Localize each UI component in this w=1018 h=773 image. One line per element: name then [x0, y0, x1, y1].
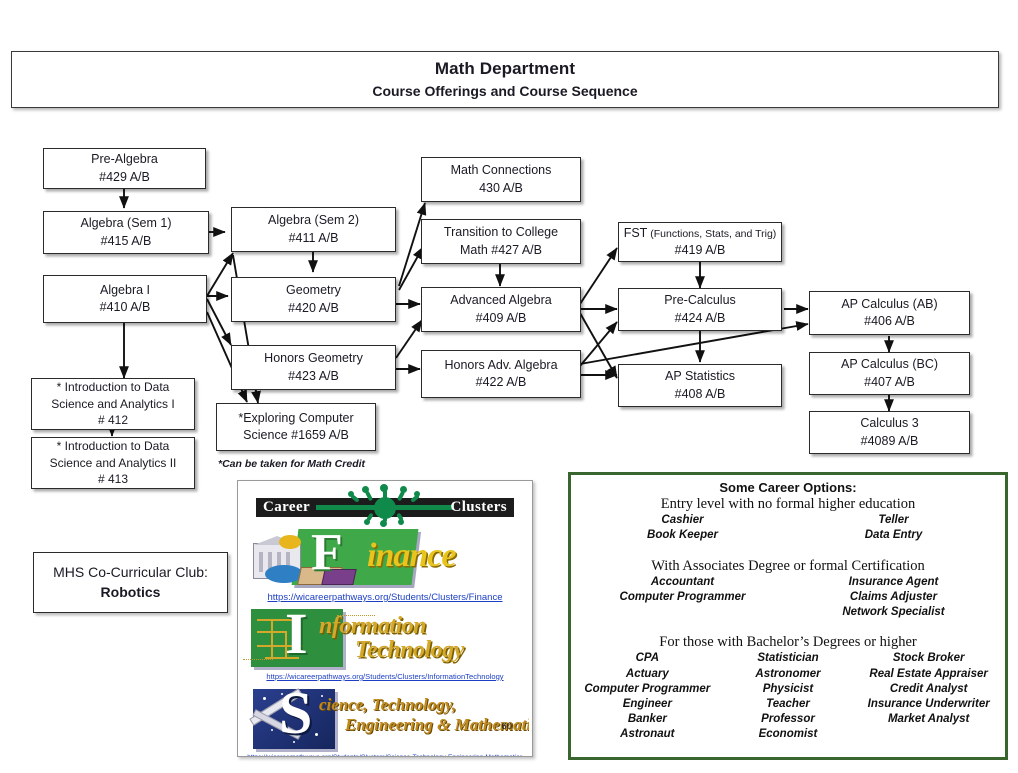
logo-word-clusters: Clusters: [450, 499, 507, 516]
career-job: CPA: [577, 651, 718, 666]
node-line-1: * Introduction to Data: [57, 438, 170, 455]
node-line-2: #409 A/B: [476, 310, 527, 327]
node-line-1: Pre-Calculus: [664, 292, 736, 309]
career-clusters-logo: Career Clusters: [256, 489, 514, 519]
node-line-1: AP Calculus (AB): [841, 296, 937, 313]
star: [263, 697, 266, 700]
page-canvas: Math Department Course Offerings and Cou…: [0, 0, 1018, 773]
page-title: Math Department: [435, 59, 575, 79]
career-jobs-grid: CPAStatisticianStock BrokerActuaryAstron…: [577, 651, 999, 741]
node-line-2: #406 A/B: [864, 313, 915, 330]
fst-expansion: (Functions, Stats, and Trig): [647, 228, 776, 240]
node-line-1: Honors Geometry: [264, 350, 363, 367]
career-job: Teacher: [718, 697, 859, 712]
bank-column: [259, 552, 263, 572]
logo-connector-left: [316, 505, 378, 510]
career-job: Teller: [788, 513, 999, 528]
node-line-3: # 413: [98, 471, 128, 488]
page-number: 60: [501, 721, 512, 732]
node-line-2: #410 A/B: [100, 299, 151, 316]
node-pre-calculus[interactable]: Pre-Calculus #424 A/B: [618, 288, 782, 331]
node-line-2: Science and Analytics I: [51, 396, 174, 413]
career-job: Astronomer: [718, 667, 859, 682]
logo-dot: [414, 491, 420, 497]
node-line-1: *Exploring Computer: [238, 410, 353, 427]
node-line-1: * Introduction to Data: [57, 379, 170, 396]
career-job: Claims Adjuster: [788, 590, 999, 605]
career-job: Actuary: [577, 667, 718, 682]
node-line-1: Algebra I: [100, 282, 150, 299]
node-algebra-i[interactable]: Algebra I #410 A/B: [43, 275, 207, 323]
it-initial: I: [285, 607, 308, 663]
node-line-1: Honors Adv. Algebra: [444, 357, 557, 374]
career-job: Engineer: [577, 697, 718, 712]
logo-dot: [380, 484, 388, 492]
career-job: Computer Programmer: [577, 682, 718, 697]
node-line-2: Science and Analytics II: [50, 455, 177, 472]
career-job: Stock Broker: [858, 651, 999, 666]
node-line-2: #408 A/B: [675, 386, 726, 403]
stem-initial: S: [279, 687, 312, 743]
career-options-panel: Some Career Options: Entry level with no…: [568, 472, 1008, 760]
circuit-trace: [271, 619, 273, 657]
cluster-card-finance: F inance https://wicareerpathways.org/St…: [238, 525, 532, 603]
logo-dot: [400, 486, 407, 493]
it-wordmark-line1: nformation: [319, 613, 426, 640]
node-line-2: 430 A/B: [479, 180, 523, 197]
career-job: Data Entry: [788, 528, 999, 543]
node-exploring-computer-science[interactable]: *Exploring Computer Science #1659 A/B: [216, 403, 376, 451]
node-line-1: Algebra (Sem 1): [80, 215, 171, 232]
node-line-2: #423 A/B: [288, 368, 339, 385]
node-ap-statistics[interactable]: AP Statistics #408 A/B: [618, 364, 782, 407]
node-line-2: #4089 A/B: [861, 433, 919, 450]
node-line-1: AP Calculus (BC): [841, 356, 938, 373]
cluster-card-stem: S cience, Technology, Engineering & Math…: [238, 687, 532, 757]
node-honors-geometry[interactable]: Honors Geometry #423 A/B: [231, 345, 396, 390]
node-ap-calculus-bc[interactable]: AP Calculus (BC) #407 A/B: [809, 352, 970, 395]
star: [271, 729, 273, 731]
career-job: Insurance Agent: [788, 575, 999, 590]
star: [315, 733, 318, 736]
node-line-1: Geometry: [286, 282, 341, 299]
logo-dot: [348, 491, 354, 497]
career-job: Real Estate Appraiser: [858, 667, 999, 682]
career-job: Book Keeper: [577, 528, 788, 543]
career-job: Professor: [718, 712, 859, 727]
career-clusters-image-panel: Career Clusters F inance: [237, 480, 533, 757]
career-jobs-grid: CashierTellerBook KeeperData Entry: [577, 513, 999, 543]
node-advanced-algebra[interactable]: Advanced Algebra #409 A/B: [421, 287, 581, 332]
page-header-banner: Math Department Course Offerings and Cou…: [11, 51, 999, 108]
node-math-connections[interactable]: Math Connections 430 A/B: [421, 157, 581, 202]
finance-initial: F: [311, 527, 343, 579]
career-group-entry-level: Entry level with no formal higher educat…: [577, 496, 999, 544]
node-line-2: Math #427 A/B: [460, 242, 542, 259]
node-line-2: #407 A/B: [864, 374, 915, 391]
career-job: Cashier: [577, 513, 788, 528]
node-line-2: #424 A/B: [675, 310, 726, 327]
career-job-empty: [577, 605, 788, 620]
node-calculus-3[interactable]: Calculus 3 #4089 A/B: [809, 411, 970, 454]
stem-wordmark-line1: cience, Technology,: [319, 695, 456, 715]
career-job: Astronaut: [577, 727, 718, 742]
node-line-2: #422 A/B: [476, 374, 527, 391]
cluster-card-information-technology: I nformation Technology https://wicareer…: [238, 607, 532, 681]
career-job: Insurance Underwriter: [858, 697, 999, 712]
node-geometry[interactable]: Geometry #420 A/B: [231, 277, 396, 322]
career-group-heading: For those with Bachelor’s Degrees or hig…: [577, 634, 999, 651]
career-groups-container: Entry level with no formal higher educat…: [577, 496, 999, 742]
node-line-1: Advanced Algebra: [450, 292, 551, 309]
node-line-1: Pre-Algebra: [91, 151, 158, 168]
node-line-2: Science #1659 A/B: [243, 427, 349, 444]
node-mhs-co-curricular-club[interactable]: MHS Co-Curricular Club: Robotics: [33, 552, 228, 613]
career-group-heading: With Associates Degree or formal Certifi…: [577, 558, 999, 575]
fst-abbrev: FST: [624, 226, 648, 240]
career-job: Market Analyst: [858, 712, 999, 727]
career-job: Statistician: [718, 651, 859, 666]
node-fst[interactable]: FST (Functions, Stats, and Trig) #419 A/…: [618, 222, 782, 262]
node-line-1: MHS Co-Curricular Club:: [53, 563, 208, 582]
node-line-2: #411 A/B: [289, 230, 339, 247]
finance-artwork: F inance: [249, 525, 521, 591]
circuit-wire: [243, 659, 273, 660]
career-job: Computer Programmer: [577, 590, 788, 605]
gold-coin-icon: [279, 535, 301, 549]
node-line-3: # 412: [98, 412, 128, 429]
career-group-bachelors: For those with Bachelor’s Degrees or hig…: [577, 634, 999, 742]
node-algebra-sem1[interactable]: Algebra (Sem 1) #415 A/B: [43, 211, 209, 254]
node-line-1: AP Statistics: [665, 368, 735, 385]
page-subtitle: Course Offerings and Course Sequence: [372, 83, 637, 100]
node-ap-calculus-ab[interactable]: AP Calculus (AB) #406 A/B: [809, 291, 970, 335]
information-technology-artwork: I nformation Technology: [243, 607, 527, 671]
node-honors-adv-algebra[interactable]: Honors Adv. Algebra #422 A/B: [421, 350, 581, 398]
node-intro-data-science-analytics-1[interactable]: * Introduction to Data Science and Analy…: [31, 378, 195, 430]
finance-wordmark: inance: [367, 537, 455, 575]
node-line-1: Algebra (Sem 2): [268, 212, 359, 229]
stem-artwork: S cience, Technology, Engineering & Math…: [241, 687, 529, 753]
career-group-heading: Entry level with no formal higher educat…: [577, 496, 999, 513]
node-algebra-sem2[interactable]: Algebra (Sem 2) #411 A/B: [231, 207, 396, 252]
node-line-1: Calculus 3: [860, 415, 918, 432]
node-line-2: #420 A/B: [288, 300, 339, 317]
math-credit-footnote: *Can be taken for Math Credit: [218, 458, 365, 470]
career-group-associates: With Associates Degree or formal Certifi…: [577, 558, 999, 621]
career-job: Economist: [718, 727, 859, 742]
node-line-1: FST (Functions, Stats, and Trig): [624, 225, 777, 242]
node-pre-algebra[interactable]: Pre-Algebra #429 A/B: [43, 148, 206, 189]
node-transition-to-college-math[interactable]: Transition to College Math #427 A/B: [421, 219, 581, 264]
career-job: Banker: [577, 712, 718, 727]
career-options-title: Some Career Options:: [577, 480, 999, 495]
node-line-2: #419 A/B: [675, 242, 726, 259]
node-line-2: #429 A/B: [99, 169, 150, 186]
career-job: Credit Analyst: [858, 682, 999, 697]
link-cluster-finance[interactable]: https://wicareerpathways.org/Students/Cl…: [238, 592, 532, 603]
it-wordmark-line2: Technology: [355, 637, 464, 664]
node-line-2: #415 A/B: [101, 233, 152, 250]
node-line-2: Robotics: [101, 583, 161, 602]
career-group-spacer: [577, 622, 999, 634]
career-job-empty: [858, 727, 999, 742]
career-job: Physicist: [718, 682, 859, 697]
node-line-1: Transition to College: [444, 224, 558, 241]
node-intro-data-science-analytics-2[interactable]: * Introduction to Data Science and Analy…: [31, 437, 195, 489]
logo-word-career: Career: [263, 499, 310, 516]
career-job: Accountant: [577, 575, 788, 590]
logo-connector-right: [392, 505, 454, 510]
link-cluster-information-technology[interactable]: https://wicareerpathways.org/Students/Cl…: [238, 672, 532, 681]
link-cluster-stem[interactable]: https://wicareerpathways.org/Students/Cl…: [238, 754, 532, 757]
career-jobs-grid: AccountantInsurance AgentComputer Progra…: [577, 575, 999, 620]
logo-dot: [362, 486, 369, 493]
career-group-spacer: [577, 546, 999, 558]
career-job: Network Specialist: [788, 605, 999, 620]
node-line-1: Math Connections: [451, 162, 552, 179]
